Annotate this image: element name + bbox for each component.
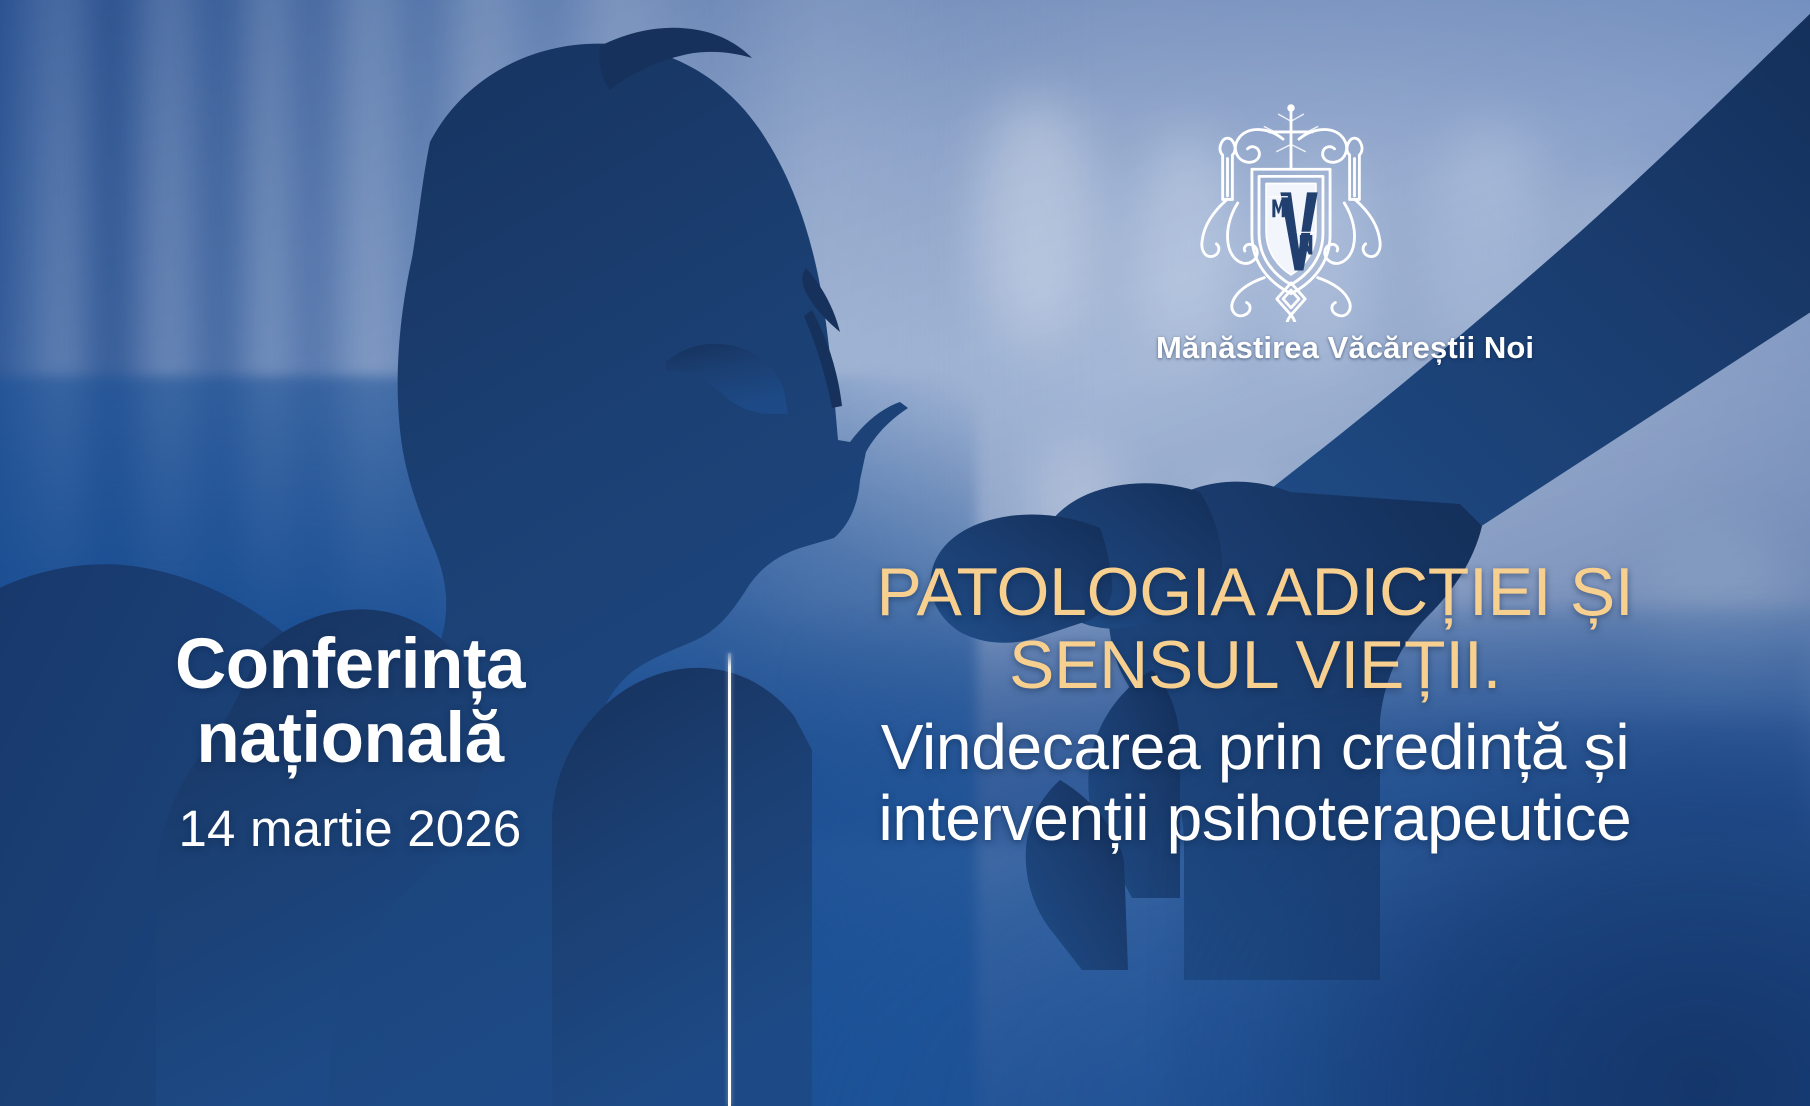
event-title-line-2: națională — [0, 704, 700, 774]
conference-theme-block: PATOLOGIA ADICȚIEI ȘI SENSUL VIEȚII. Vin… — [700, 556, 1810, 855]
theme-subtitle-line-1: Vindecarea prin credință și — [700, 712, 1810, 784]
theme-title-line-2: SENSUL VIEȚII. — [700, 629, 1810, 702]
event-title-line-1: Conferința — [0, 630, 700, 700]
monastery-name-label: Mănăstirea Văcăreștii Noi — [1156, 330, 1426, 366]
event-info-block: Conferința națională 14 martie 2026 — [0, 630, 700, 858]
theme-subtitle-line-2: intervenții psihoterapeutice — [700, 783, 1810, 855]
monastery-logo-block: Mănăstirea Văcăreștii Noi — [1156, 100, 1426, 366]
conference-poster: Mănăstirea Văcăreștii Noi Conferința naț… — [0, 0, 1810, 1106]
event-date: 14 martie 2026 — [0, 799, 700, 858]
theme-title-line-1: PATOLOGIA ADICȚIEI ȘI — [700, 556, 1810, 629]
monastery-crest-icon — [1192, 100, 1390, 322]
background-photo — [0, 0, 1810, 1106]
